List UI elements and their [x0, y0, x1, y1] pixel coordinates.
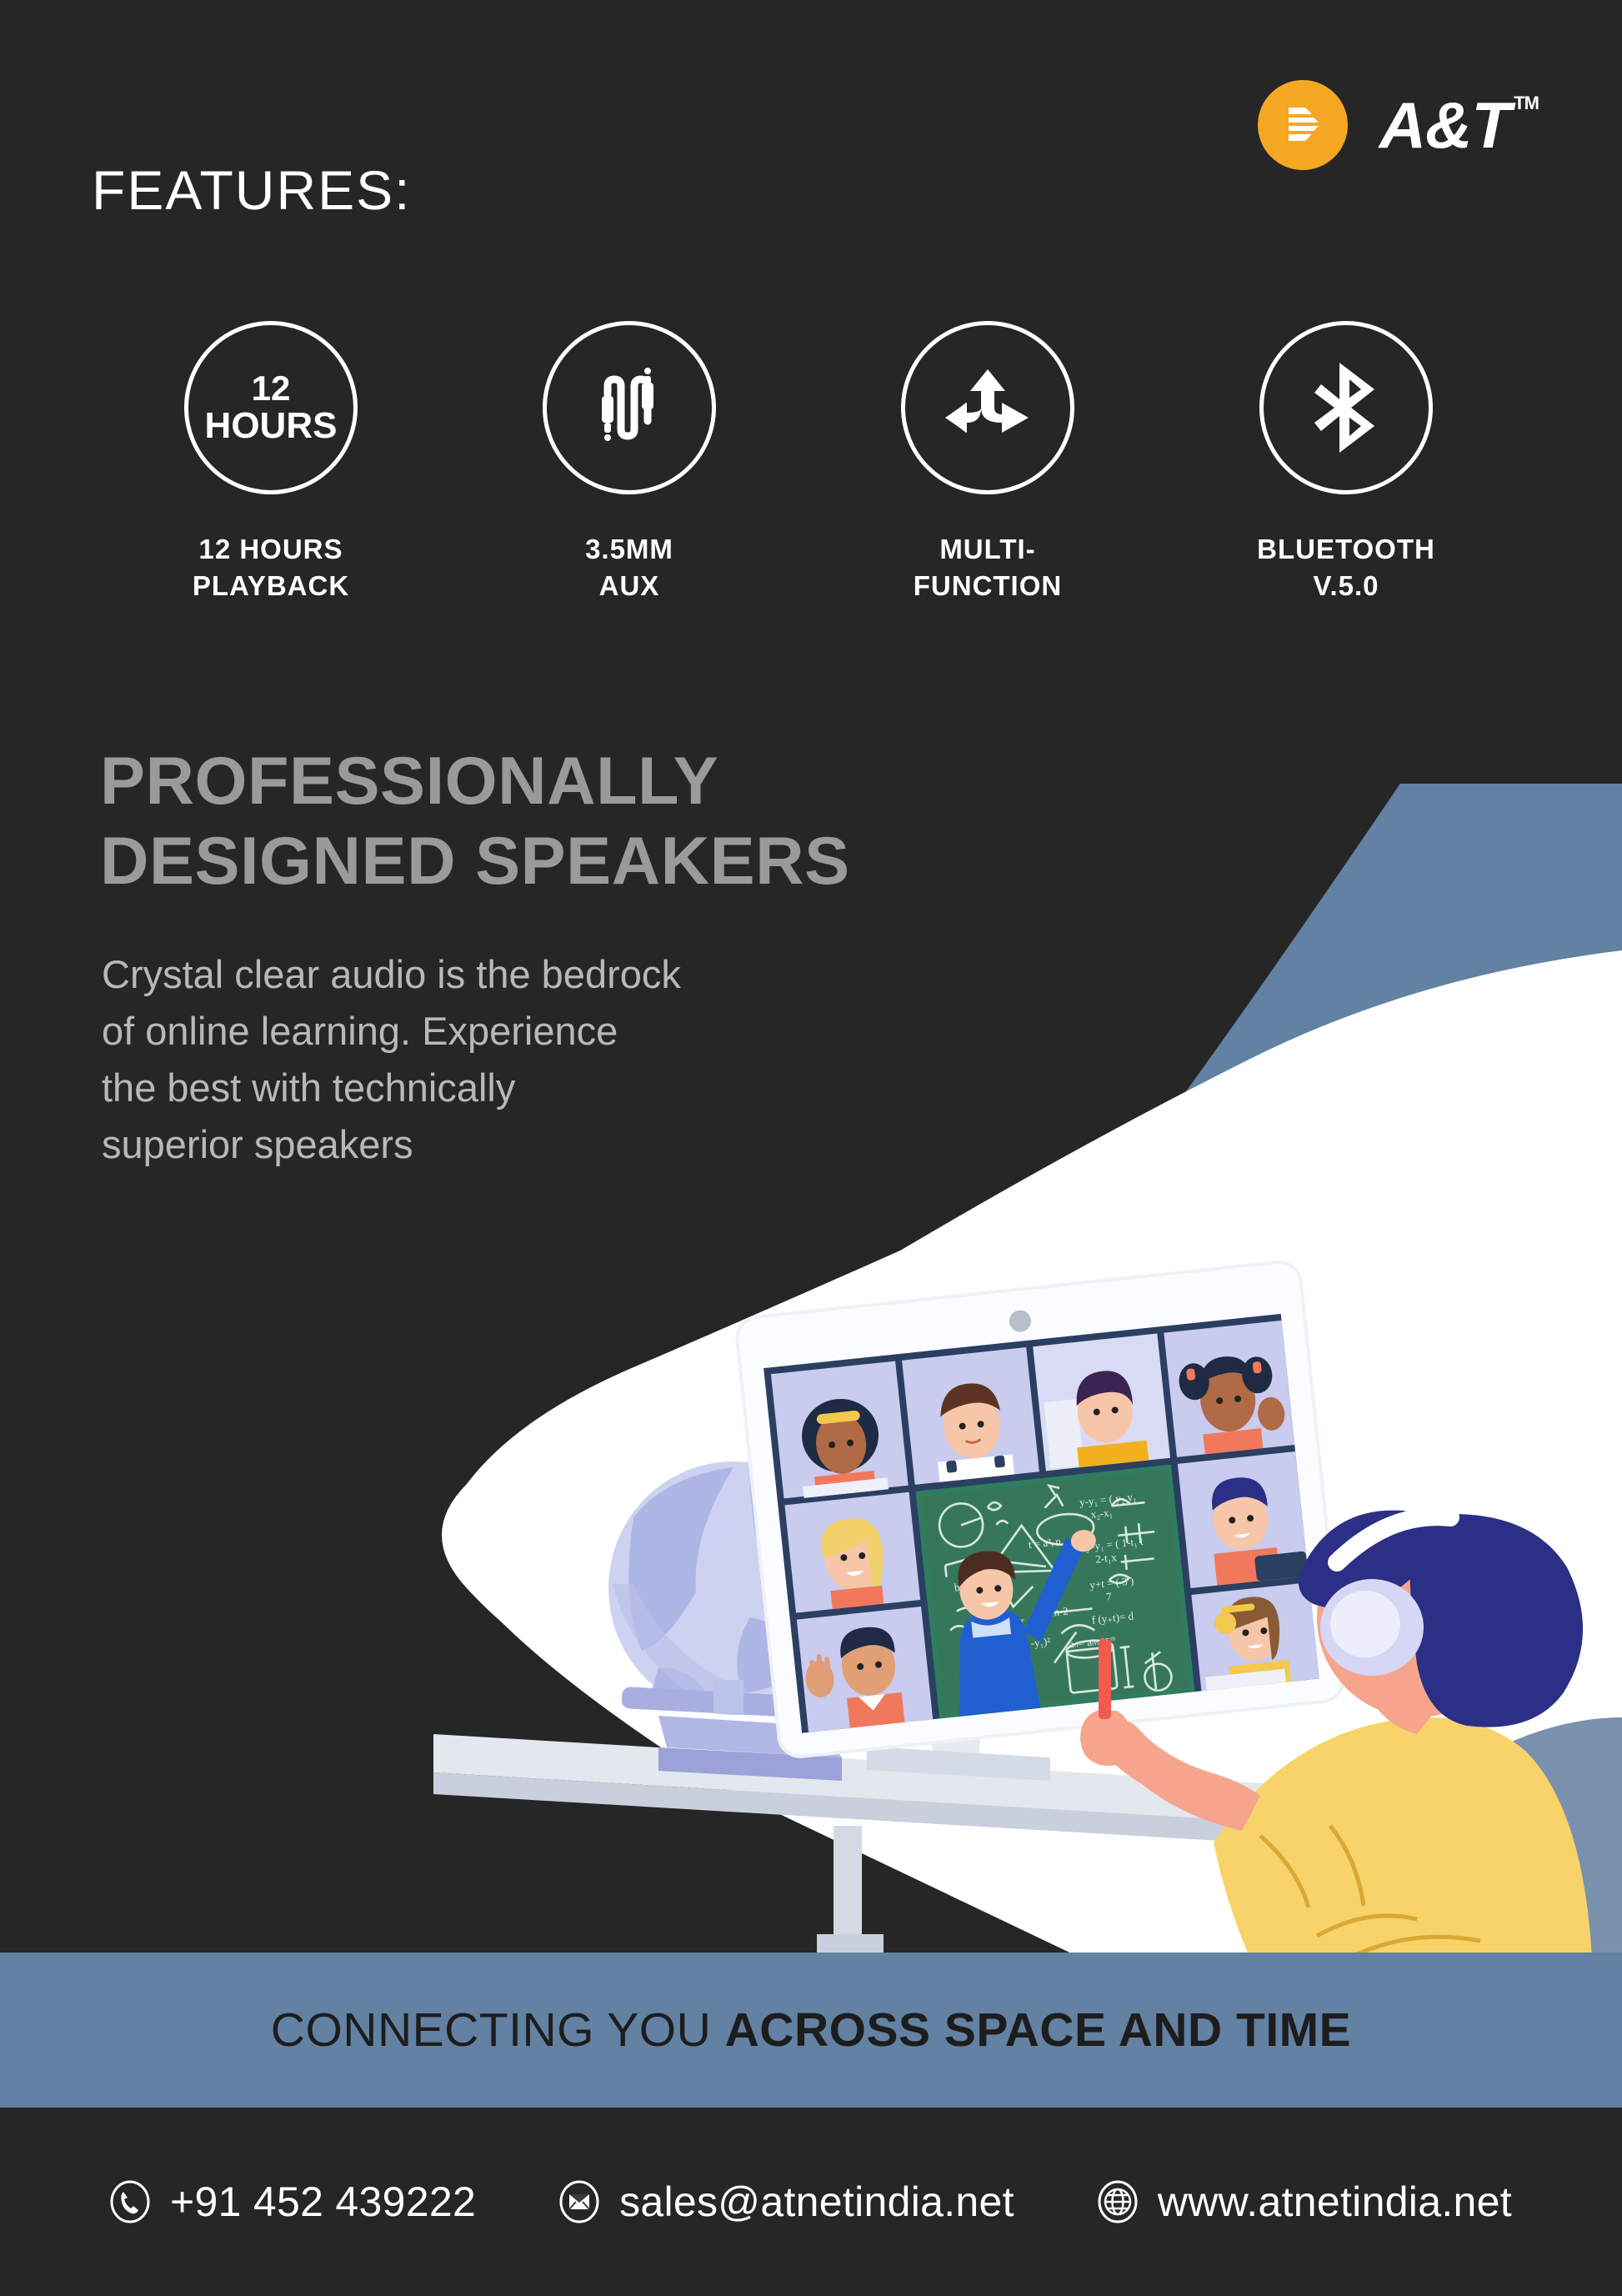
footer-contact-bar: +91 452 439222 sales@atnetindia.net — [0, 2108, 1622, 2296]
hours-number: 12 — [205, 370, 338, 407]
feature-label-aux: 3.5MM AUX — [585, 531, 673, 604]
envelope-icon — [558, 2180, 601, 2223]
phone-icon — [108, 2180, 152, 2223]
body-line-3: the best with technically — [102, 1060, 681, 1116]
svg-text:2-t₁x: 2-t₁x — [1094, 1551, 1117, 1566]
bluetooth-icon — [1306, 358, 1386, 458]
red-pencil — [1099, 1639, 1111, 1719]
feature-label-bluetooth: BLUETOOTH V.5.0 — [1257, 531, 1435, 604]
label-line-2: V.5.0 — [1313, 570, 1379, 601]
features-heading: FEATURES: — [92, 158, 411, 222]
poster-root: A&T TM FEATURES: 12 HOURS 12 HOURS PLAYB… — [0, 0, 1622, 2296]
website-url: www.atnetindia.net — [1158, 2178, 1512, 2226]
label-line-2: PLAYBACK — [193, 570, 349, 601]
multifunction-icon-circle — [901, 321, 1074, 494]
email-address: sales@atnetindia.net — [619, 2178, 1014, 2226]
brand-logo: A&T TM — [1258, 80, 1539, 170]
contact-phone[interactable]: +91 452 439222 — [108, 2178, 476, 2226]
tagline-light-part: CONNECTING YOU — [271, 2003, 725, 2057]
feature-label-playback: 12 HOURS PLAYBACK — [193, 531, 349, 604]
body-copy: Crystal clear audio is the bedrock of on… — [102, 946, 681, 1174]
brand-name: A&T — [1379, 88, 1510, 162]
contact-email[interactable]: sales@atnetindia.net — [558, 2178, 1014, 2226]
body-line-2: of online learning. Experience — [102, 1003, 681, 1060]
feature-aux: 3.5MM AUX — [450, 321, 808, 604]
twelve-hours-text-icon: 12 HOURS — [205, 370, 338, 445]
logo-wordmark: A&T TM — [1379, 93, 1539, 158]
label-line-1: 3.5MM — [585, 534, 673, 564]
aux-icon-circle — [543, 321, 716, 494]
feature-playback: 12 HOURS 12 HOURS PLAYBACK — [92, 321, 450, 604]
headline-line-2: DESIGNED SPEAKERS — [100, 822, 850, 902]
globe-icon — [1096, 2180, 1139, 2223]
contact-website[interactable]: www.atnetindia.net — [1096, 2178, 1512, 2226]
phone-number: +91 452 439222 — [170, 2178, 476, 2226]
label-line-1: 12 HOURS — [198, 534, 343, 564]
page-title: PROFESSIONALLY DESIGNED SPEAKERS — [100, 742, 850, 901]
bluetooth-icon-circle — [1259, 321, 1433, 494]
speed-arrow-mark-icon — [1277, 99, 1329, 151]
label-line-2: FUNCTION — [914, 570, 1062, 601]
body-line-4: superior speakers — [102, 1116, 681, 1173]
aux-cable-icon — [583, 361, 676, 454]
trademark-symbol: TM — [1514, 94, 1539, 113]
svg-text:x₂-x₁: x₂-x₁ — [1090, 1506, 1114, 1521]
feature-label-multifunction: MULTI- FUNCTION — [914, 531, 1062, 604]
hours-word: HOURS — [205, 407, 338, 445]
video-tile-right-column — [1178, 1451, 1319, 1691]
logo-mark-circle — [1258, 80, 1348, 170]
headline-line-1: PROFESSIONALLY — [100, 742, 850, 822]
label-line-1: BLUETOOTH — [1257, 534, 1435, 564]
label-line-2: AUX — [599, 570, 660, 601]
three-way-arrow-icon — [942, 366, 1034, 449]
tagline-bold-part: ACROSS SPACE AND TIME — [725, 2003, 1352, 2057]
playback-icon-circle: 12 HOURS — [184, 321, 358, 494]
body-line-1: Crystal clear audio is the bedrock — [102, 946, 681, 1003]
tagline-band: CONNECTING YOU ACROSS SPACE AND TIME — [0, 1953, 1622, 2108]
feature-bluetooth: BLUETOOTH V.5.0 — [1167, 321, 1525, 604]
feature-multifunction: MULTI- FUNCTION — [808, 321, 1167, 604]
chalkboard-tile: y-y₁ = ( y₂ y₁ x₂-x₁ y-y₁ = ( 1-t₁ t 2-t… — [916, 1465, 1195, 1719]
monitor: y-y₁ = ( y₂ y₁ x₂-x₁ y-y₁ = ( 1-t₁ t 2-t… — [735, 1260, 1345, 1781]
tagline: CONNECTING YOU ACROSS SPACE AND TIME — [271, 2003, 1351, 2058]
label-line-1: MULTI- — [939, 534, 1035, 564]
features-row: 12 HOURS 12 HOURS PLAYBACK — [92, 321, 1525, 604]
